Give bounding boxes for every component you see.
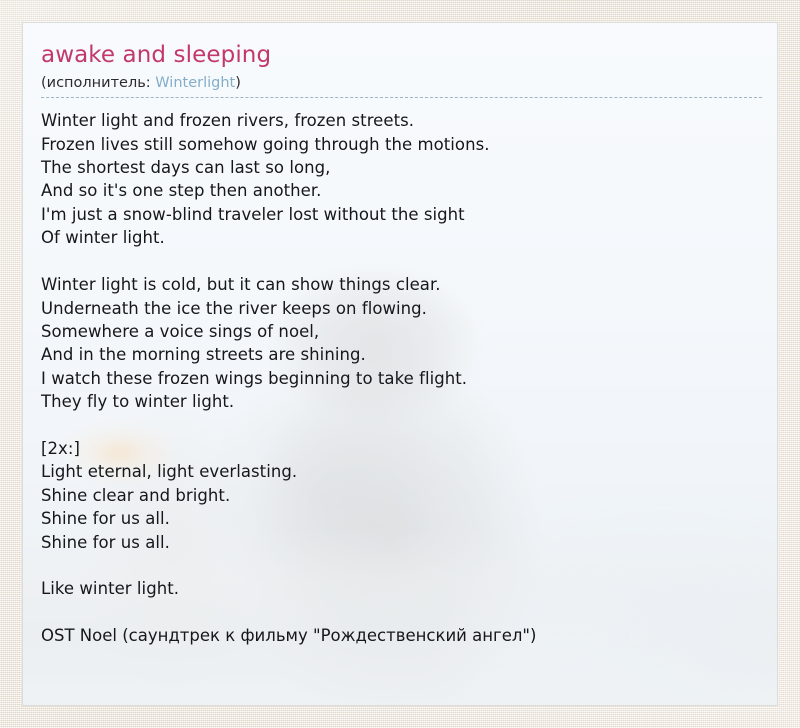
lyrics-card: awake and sleeping (исполнитель: Winterl…: [22, 22, 778, 706]
title-divider: [41, 97, 762, 98]
lyrics-body: Winter light and frozen rivers, frozen s…: [41, 109, 759, 624]
artist-label-prefix: (исполнитель:: [41, 75, 155, 91]
card-content: awake and sleeping (исполнитель: Winterl…: [23, 23, 777, 648]
page-frame: awake and sleeping (исполнитель: Winterl…: [0, 0, 800, 728]
lyrics-footnote: OST Noel (саундтрек к фильму "Рождествен…: [41, 624, 759, 647]
artist-line: (исполнитель: Winterlight): [41, 74, 759, 92]
song-title: awake and sleeping: [41, 42, 759, 69]
artist-link[interactable]: Winterlight: [155, 75, 235, 91]
artist-label-suffix: ): [235, 75, 241, 91]
